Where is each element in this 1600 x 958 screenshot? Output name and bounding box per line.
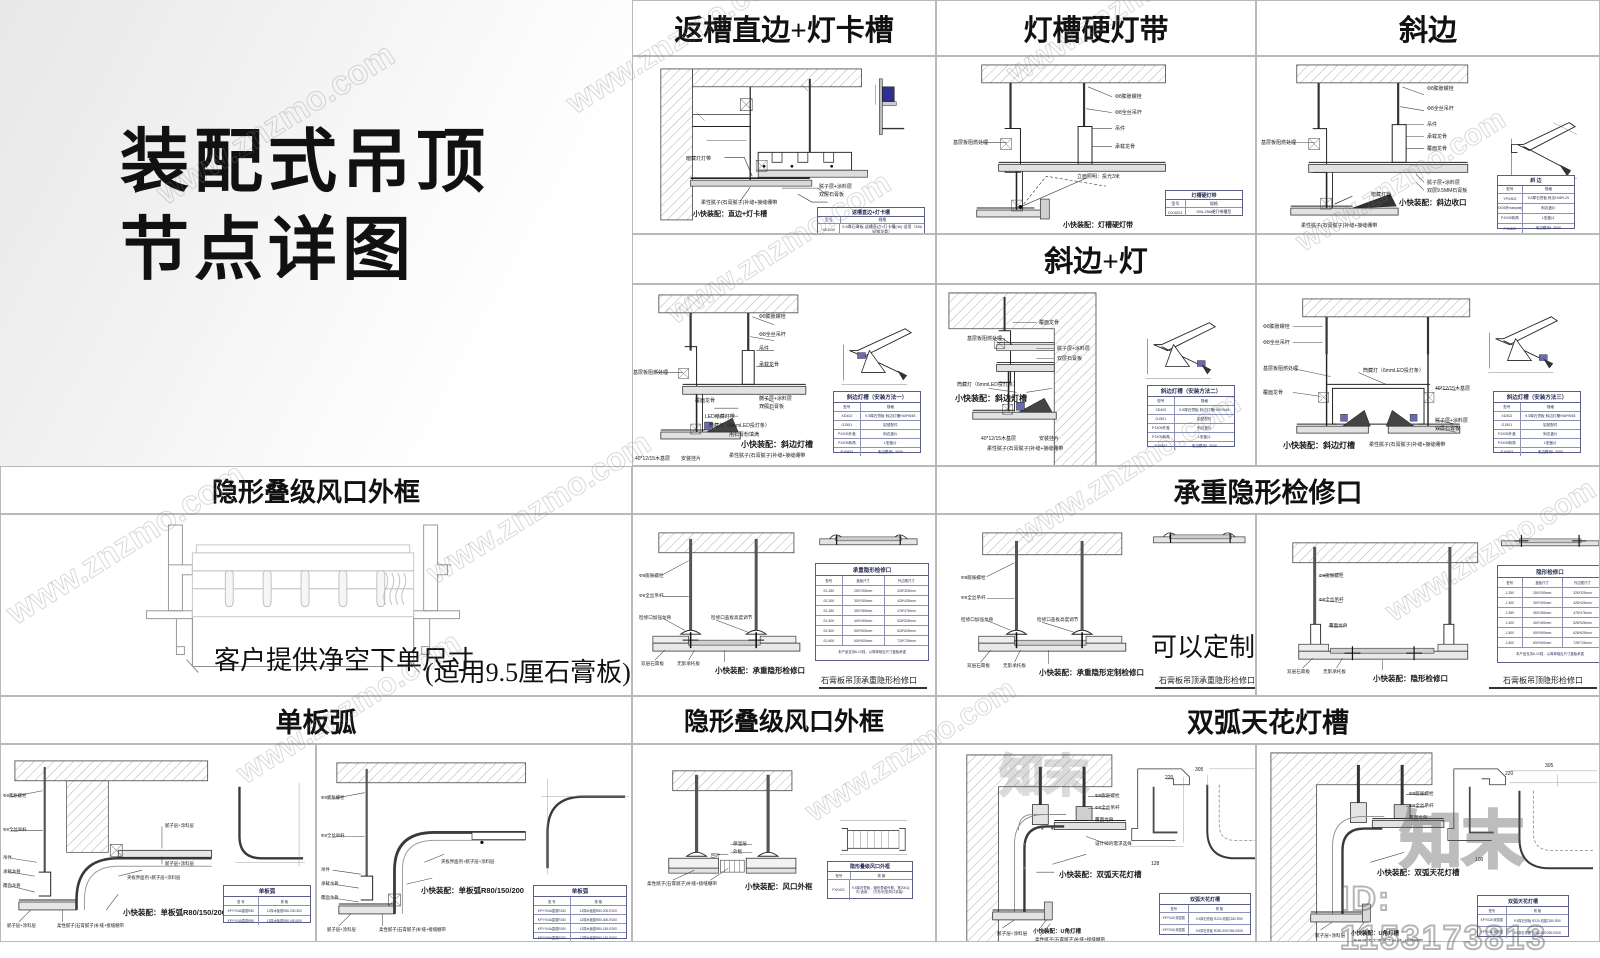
cell-spec: 收边模块L 3000: [1523, 224, 1574, 233]
cell-model: KPY02A 双弧弧: [1478, 915, 1507, 926]
label-p9-4: 双层石膏板: [967, 663, 990, 669]
caption-p9: 石膏板吊顶承重隐形检修口: [1159, 675, 1255, 686]
cell-panel: 250*250mm: [1523, 588, 1563, 597]
label-p14-3: 设计师的需求选择: [1095, 841, 1132, 847]
table-row: KPYY04A直弧R200 12厚木板弧R80-150-R200: [534, 924, 626, 933]
callout-p9: 小快装配：承重隐形定制检修口: [1039, 667, 1144, 678]
label-p4-1: Φ8全丝吊杆: [759, 331, 786, 338]
cell-model: XD402: [834, 412, 861, 420]
spec-table-p12: 单板弧 型 号 规 格 KPYY04A直弧R150 12厚木板弧R80-200-…: [533, 885, 627, 939]
spec-table-p13-title: 隐形叠级风口外框: [828, 862, 912, 872]
cell-model: FXK402: [828, 880, 850, 900]
sheet-title-line1: 装配式吊顶: [120, 118, 490, 206]
spec-table-p3-header: 型号 规格: [1498, 186, 1574, 194]
panel-xiebian-dengcao-1: Φ8膨胀螺栓 Φ8全丝吊杆 吊件 承载龙骨 基层板阻燃处理 覆面龙骨 腻子层+涂…: [632, 284, 936, 466]
cell-frame: 628*628mm: [885, 626, 928, 635]
label-p4-8: LED暗藏灯带: [705, 413, 735, 420]
cell-spec: 9.5厚石膏板 R280-300*250-R200: [1507, 927, 1568, 938]
table-row: PJX05转角 L型盖片: [1148, 433, 1234, 442]
label-p13-1: 外框: [733, 849, 742, 855]
cell-spec: 12厚木板弧R80-150-R200: [571, 924, 626, 932]
cell-model: YPX802: [1498, 194, 1523, 203]
spec-table-p11-title: 单板弧: [224, 886, 310, 897]
label-p11-2: 吊件: [3, 855, 12, 861]
label-p13-3: 柔性腻子(石膏腻子)补缝+接缝绷带: [647, 881, 717, 887]
label-p11-5: 腻子层+涂料层: [165, 823, 194, 829]
spec-table-p4-title: 斜边灯槽（安装方法一）: [834, 392, 920, 403]
table-row: KPYY04A直弧R80 12厚木板弧R80-400-800: [224, 916, 310, 925]
cell-spec: 收边模块L 3000: [1175, 442, 1234, 450]
col-0: 型号: [1478, 907, 1507, 914]
spec-table-p4: 斜边灯槽（安装方法一） 型号 规格 XD402 9.5厚石膏板 斜边灯槽H48*…: [833, 391, 921, 453]
label-p8-1: Φ8全丝吊杆: [639, 593, 664, 599]
label-p8-5: 无影承托板: [677, 661, 700, 667]
label-p9-5: 无影承托板: [1003, 663, 1026, 669]
label-p12-2: 吊件: [321, 867, 330, 873]
cell-frame: 728*728mm: [885, 636, 928, 645]
cell-spec: 12厚木板弧R80-150-R200: [571, 933, 626, 941]
callout-p10: 小快装配：隐形检修口: [1373, 673, 1448, 684]
cell-frame: 328*328mm: [1563, 588, 1600, 597]
dim-p14-1: 220: [1165, 775, 1173, 781]
label-p5-1: 基层板阻燃处理: [967, 335, 1002, 342]
cell-spec: 收边模块L 3000: [1521, 448, 1580, 456]
table-row: SJ-350 350*350mm 478*478mm: [816, 606, 928, 616]
table-row: FXK402 9.5厚石膏板，隐形叠级外框，宽200以内 适用：（方形/长型风口…: [828, 880, 912, 900]
cell-frame: 628*628mm: [1563, 628, 1600, 637]
table-row: KPY02A 双弧弧 9.5厚石膏板 R220-双弧口80-R50: [1160, 913, 1250, 925]
cell-model: KPYY04A直弧R200: [534, 924, 571, 932]
cell-spec: 9.5厚石膏板 R280-300*250-R200: [1189, 925, 1250, 936]
cell-model: J-300: [1498, 598, 1523, 607]
panel-chengzhong-jianxiukou: Φ8膨胀螺栓 Φ8全丝吊杆 检修口加强龙骨 检修口盖板高度调节 双层石膏板 无影…: [632, 514, 936, 696]
label-p5-4: 筒藏灯（6mmLED投灯条）: [957, 381, 1018, 388]
label-p12-6: 夹板界面剂+腻子层+涂料层: [441, 859, 494, 865]
table-row: KPYY04A直弧R150 12厚木板弧R80-400-R100: [534, 915, 626, 924]
cell-model: SJ-400: [816, 616, 843, 625]
col-0: 型号: [1494, 403, 1521, 411]
spec-table-p13: 隐形叠级风口外框 型号 规 格 FXK402 9.5厚石膏板，隐形叠级外框，宽2…: [827, 861, 913, 899]
label-p11-1: Φ8全丝吊杆: [3, 827, 27, 833]
table-row: J-300 300*300mm 428*428mm: [1498, 598, 1600, 608]
label-p3-0: Φ8膨胀螺栓: [1427, 85, 1454, 92]
header-yinxing-fengkou-2: 隐形叠级风口外框: [632, 696, 936, 744]
label-p4-4: 基层板阻燃处理: [633, 369, 668, 376]
panel-row2-spacer-left: [632, 234, 936, 284]
caption-underline-p9: [1155, 687, 1255, 689]
cell-panel: 350*350mm: [1523, 608, 1563, 617]
col-1: 规 格: [259, 897, 310, 905]
label-p6-1: Φ8全丝吊杆: [1263, 339, 1290, 346]
label-p3-4: 覆面龙骨: [1427, 145, 1447, 152]
table-row: J-400 400*400mm 528*528mm: [1498, 618, 1600, 628]
note-text-p7: (适用9.5厘石膏板): [425, 652, 631, 689]
header-yinxing-fengkou-1: 隐形叠级风口外框: [0, 466, 632, 514]
panel-xiebian: Φ8膨胀螺栓 Φ8全丝吊杆 吊件 承载龙骨 覆面龙骨 基层板阻燃处理 腻子层+涂…: [1256, 56, 1600, 234]
label-p3-7: 双层9.5MM石膏板: [1427, 187, 1467, 194]
spec-table-p2: 灯槽硬灯带 型号 规格 DX4201 50#-25#硬灯带槽型: [1165, 190, 1243, 216]
cell-panel: 500*500mm: [843, 626, 885, 635]
panel-chengzhong-dingzhi-jianxiukou: Φ8膨胀螺栓 Φ8全丝吊杆 检修口加强龙骨 检修口盖板高度调节 双层石膏板 无影…: [936, 514, 1256, 696]
label-p3-2: 吊件: [1427, 121, 1437, 128]
cell-spec: 斜边盖片: [1175, 424, 1234, 432]
table-row: PJX05转角 L型盖片: [834, 439, 920, 448]
spec-table-p14-title: 双弧天花灯槽: [1160, 894, 1250, 905]
label-p12-5: 腻子层+涂料层: [327, 927, 356, 933]
panel-yinxing-fengkou-waikuang-2: 保温层 外框 回叶 柔性腻子(石膏腻子)补缝+接缝绷带 小快装配：风口外框 隐形…: [632, 744, 936, 942]
col-1: 规格: [1186, 200, 1242, 207]
cell-model: J-600: [1498, 638, 1523, 647]
label-p10-2: 覆面龙骨: [1329, 623, 1347, 629]
table-row: PJX803 收边模块L 3000: [1498, 224, 1574, 233]
col-0: 型号: [818, 217, 841, 223]
table-row: KPY03A 双弧弧 9.5厚石膏板 R280-300*250-R200: [1478, 927, 1568, 938]
dim-p15-0: 305: [1545, 763, 1553, 769]
label-p5-6: 安装挂片: [1039, 435, 1059, 442]
label-p5-3: 双层石膏板: [1057, 355, 1082, 362]
cell-spec: 斜边盖片: [861, 430, 920, 438]
panel-danbanhu-r200: Φ8膨胀螺栓 Φ8全丝吊杆 吊件 承载龙骨 覆面龙骨 夹板界面剂+腻子层+涂料层…: [316, 744, 632, 942]
label-p2-4: 基层板阻燃处理: [953, 139, 988, 146]
cell-spec: 收边模块L 3000: [861, 448, 920, 456]
cell-panel: 350*350mm: [843, 606, 885, 615]
header-xiebian: 斜边: [1256, 0, 1600, 56]
label-p10-1: Φ8全丝吊杆: [1319, 597, 1344, 603]
label-p4-3: 承载龙骨: [759, 361, 779, 368]
spec-table-p8: 承重隐形检修口 型号 盖板尺寸 外边框尺寸 SJ-250 250*250mm 3…: [815, 563, 929, 661]
caption-p8: 石膏板吊顶承重隐形检修口: [821, 675, 917, 686]
col-1: 规格: [1523, 186, 1574, 193]
table-row: XD402 9.5厚石膏板 斜边灯槽H48*W48: [1494, 412, 1580, 421]
col-2: 外边框尺寸: [1563, 578, 1600, 587]
col-0: 型号: [828, 872, 851, 879]
label-p11-7: 柔性腻子(石膏腻子)补缝+接缝绷带: [57, 923, 124, 929]
cell-model: SJ-600: [816, 636, 843, 645]
cell-spec: 12厚木板弧R80-400-800: [259, 916, 310, 925]
cell-spec: 50#-25#硬灯带槽型: [1186, 208, 1242, 216]
col-1: 规格: [841, 217, 924, 223]
spec-table-p5-header: 型号 规格: [1148, 397, 1234, 406]
cell-model: SJ-500: [816, 626, 843, 635]
col-1: 规 格: [1189, 905, 1250, 912]
cell-spec: 12厚木板弧R80-200-R100: [571, 906, 626, 914]
col-2: 外边框尺寸: [885, 576, 928, 585]
label-p1-2: 双层石膏板: [819, 191, 844, 198]
cell-model: J-400: [1498, 618, 1523, 627]
cell-model: PJX05转角: [834, 439, 861, 447]
spec-table-p8-header: 型号 盖板尺寸 外边框尺寸: [816, 576, 928, 586]
label-p13-0: 保温层: [733, 841, 747, 847]
cell-frame: 728*728mm: [1563, 638, 1600, 647]
label-p9-3: 检修口盖板高度调节: [1037, 617, 1078, 623]
col-1: 盖板尺寸: [843, 576, 885, 585]
label-p4-0: Φ8膨胀螺栓: [759, 313, 786, 320]
label-p5-7: 柔性腻子(石膏腻子)补缝+接缝绷带: [987, 445, 1063, 452]
spec-table-p12-title: 单板弧: [534, 886, 626, 897]
cell-panel: 500*500mm: [1523, 628, 1563, 637]
col-1: 规 格: [571, 897, 626, 905]
dim-p15-2: 100: [1475, 857, 1483, 863]
spec-table-p1-title: 返槽直边+灯卡槽: [818, 208, 924, 217]
cell-model: SJ-250: [816, 586, 843, 595]
table-row: XD402 9.5厚石膏板 斜边灯槽H48*W48: [1148, 406, 1234, 415]
sheet-title-line2: 节点详图: [120, 206, 490, 294]
col-0: 型号: [1498, 186, 1523, 193]
cell-spec: 9.5厚石膏板 R220-双弧口80-R50: [1189, 913, 1250, 924]
panel-dengcao-yingdengdai: Φ8膨胀螺栓 Φ8全丝吊杆 吊件 承载龙骨 基层板阻燃处理 立面照明：投光3米 …: [936, 56, 1256, 234]
label-p2-2: 吊件: [1115, 125, 1125, 132]
header-fancao-zhibian: 返槽直边+灯卡槽: [632, 0, 936, 56]
label-p4-2: 吊件: [759, 345, 769, 352]
label-p14-5: 柔性腻子(石膏腻子)补缝+接缝绷带: [1035, 937, 1105, 942]
label-p11-5b: 腻子层+涂料层: [165, 861, 194, 867]
col-0: 型 号: [534, 897, 571, 905]
header-xiebian-deng: 斜边+灯: [936, 234, 1256, 284]
panel-row3-spacer: [632, 466, 936, 514]
label-p10-4: 无影承托板: [1323, 669, 1346, 675]
cell-model: PJX05外盖: [1148, 424, 1175, 432]
spec-table-p8-title: 承重隐形检修口: [816, 564, 928, 576]
cell-spec: 9.5厚石膏板 斜边灯槽H48*W48: [1175, 406, 1234, 414]
spec-table-p6-title: 斜边灯槽（安装方法三）: [1494, 392, 1580, 403]
header-chengzhong-jianxiukou: 承重隐形检修口: [936, 466, 1600, 514]
label-p13-2: 回叶: [711, 853, 720, 859]
spec-table-p14-header: 型号 规 格: [1160, 905, 1250, 913]
table-row: SJ-300 300*300mm 428*428mm: [816, 596, 928, 606]
cell-model: PJX05外盖: [1494, 430, 1521, 438]
spec-table-p8-footnote: 本产品支持6-10档，以简单相应尺寸盖板承重: [816, 646, 928, 657]
spec-table-p4-header: 型号 规格: [834, 403, 920, 412]
cell-model: DX4201: [1166, 208, 1186, 216]
cell-spec: 铝型配件: [1521, 421, 1580, 429]
header-shuanghu-tianhua: 双弧天花灯槽: [936, 696, 1600, 744]
callout-p2: 小快装配：灯槽硬灯带: [1063, 220, 1133, 230]
table-row: J-350 350*350mm 478*478mm: [1498, 608, 1600, 618]
label-p8-0: Φ8膨胀螺栓: [639, 573, 664, 579]
spec-table-p15: 双弧天花灯槽 型号 规 格 KPY02A 双弧弧 9.5厚石膏板 R220-双弧…: [1477, 895, 1569, 937]
cell-spec: 铝型配件: [1175, 415, 1234, 423]
drawing-sheet: 装配式吊顶 节点详图 返槽直边+灯卡槽 灯槽硬灯带 斜边: [0, 0, 1600, 942]
cell-footnote: 本产品支持6-10档，以简单相应尺寸盖板承重: [1498, 648, 1600, 659]
spec-table-p10: 隐形检修口 型号 盖板尺寸 外边框尺寸 J-250 250*250mm 328*…: [1497, 565, 1600, 663]
table-row: PJX05转角 L型盖片: [1494, 439, 1580, 448]
cell-spec: 9.5厚石膏板 斜边H48*L20: [1523, 194, 1574, 203]
col-0: 型号: [1148, 397, 1175, 405]
cell-model: PJX05外направ盖: [1498, 204, 1523, 213]
col-0: 型号: [1498, 578, 1523, 587]
label-p10-3: 双层石膏板: [1287, 669, 1310, 675]
spec-table-p5: 斜边灯槽（安装方法二） 型号 规格 XD402 9.5厚石膏板 斜边灯槽H48*…: [1147, 385, 1235, 447]
header-danbanhu: 单板弧: [0, 696, 632, 744]
label-p6-6: 腻子层+涂料层: [1435, 417, 1468, 424]
label-p15-1: Φ8全丝吊杆: [1409, 803, 1434, 809]
callout-p11: 小快装配：单板弧R80/150/200: [123, 907, 226, 918]
cell-frame: 528*528mm: [885, 616, 928, 625]
label-p6-8: 柔性腻子(石膏腻子)补缝+接缝绷带: [1369, 441, 1445, 448]
spec-table-p1-header: 型号 规格: [818, 217, 924, 224]
col-1: 规格: [861, 403, 920, 411]
label-p9-1: Φ8全丝吊杆: [961, 595, 986, 601]
table-row: J-500 500*500mm 628*628mm: [1498, 628, 1600, 638]
cell-panel: 400*400mm: [1523, 618, 1563, 627]
label-p12-4: 覆面龙骨: [321, 895, 339, 901]
callout-p15: 小快装配：双弧天花灯槽: [1377, 867, 1460, 878]
label-p3-6: 腻子层+涂料层: [1427, 179, 1460, 186]
label-p5-2: 腻子层+涂料层: [1057, 345, 1090, 352]
spec-table-p5-title: 斜边灯槽（安装方法二）: [1148, 386, 1234, 397]
label-p4-12: 安装挂片: [681, 455, 701, 462]
label-p12-7: 柔性腻子(石膏腻子)补缝+接缝绷带: [379, 927, 446, 933]
label-p1-0: 暗藏灯灯带: [686, 155, 711, 162]
spec-table-p3: 斜 边 型号 规格 YPX802 9.5厚石膏板 斜边H48*L20 PJX05…: [1497, 175, 1575, 229]
callout-p12: 小快装配：单板弧R80/150/200: [421, 885, 524, 896]
label-p2-0: Φ8膨胀螺栓: [1115, 93, 1142, 100]
panel-xiebian-dengcao-3: Φ8膨胀螺栓 Φ8全丝吊杆 基层板阻燃处理 覆面龙骨 筒藏灯（6mmLED投灯条…: [1256, 284, 1600, 466]
callout-p8: 小快装配：承重隐形检修口: [715, 665, 805, 676]
dim-p14-2: 128: [1151, 861, 1159, 867]
cell-model: GJ501: [1494, 421, 1521, 429]
cell-spec: L型盖片: [1521, 439, 1580, 447]
cell-panel: 300*300mm: [843, 596, 885, 605]
dim-p14-0: 305: [1195, 767, 1203, 773]
spec-table-p10-footnote: 本产品支持6-10档，以简单相应尺寸盖板承重: [1498, 648, 1600, 659]
label-p4-6: 腻子层+涂料层: [759, 395, 792, 402]
label-p6-0: Φ8膨胀螺栓: [1263, 323, 1290, 330]
spec-table-p6-header: 型号 规格: [1494, 403, 1580, 412]
cell-frame: 428*428mm: [885, 596, 928, 605]
callout-p4: 小快装配：斜边灯槽: [741, 439, 813, 450]
label-p15-4: 腻子层+涂料层: [1315, 933, 1345, 939]
label-p11-0: Φ8膨胀螺栓: [3, 793, 27, 799]
cell-spec: 斜边盖片: [1521, 430, 1580, 438]
label-p6-2: 基层板阻燃处理: [1263, 365, 1298, 372]
table-row: SJ-250 250*250mm 328*328mm: [816, 586, 928, 596]
cell-spec: 9.5厚石膏板 返槽直边+灯卡槽(40) 适用（50#轻钢龙骨）: [840, 224, 924, 234]
table-row: YPX802 9.5厚石膏板 斜边H48*L20: [1498, 194, 1574, 204]
title-block: 装配式吊顶 节点详图: [0, 0, 633, 467]
header-dengcao-yingdengdai: 灯槽硬灯带: [936, 0, 1256, 56]
cell-model: GJ501: [1148, 415, 1175, 423]
cell-model: XKD02: [818, 224, 840, 234]
cell-spec: 9.5厚石膏板 斜边灯槽H48*W48: [861, 412, 920, 420]
cell-model: XD402: [1494, 412, 1521, 420]
table-row: GJ501 铝型配件: [1148, 415, 1234, 424]
label-p1-3: 柔性腻子(石膏腻子)补缝+接缝绷带: [701, 199, 777, 206]
spec-table-p10-header: 型号 盖板尺寸 外边框尺寸: [1498, 578, 1600, 588]
cell-model: PJX803: [1494, 448, 1521, 456]
label-p10-0: Φ8膨胀螺栓: [1319, 573, 1344, 579]
label-p14-1: Φ8全丝吊杆: [1095, 805, 1120, 811]
spec-table-p14: 双弧天花灯槽 型号 规 格 KPY02A 双弧弧 9.5厚石膏板 R220-双弧…: [1159, 893, 1251, 935]
cell-model: XD402: [1148, 406, 1175, 414]
label-p4-9: 筒藏灯（6mmLED投灯条）: [709, 422, 770, 429]
col-0: 型号: [816, 576, 843, 585]
label-p4-13: 柔性腻子(石膏腻子)补缝+接缝绷带: [729, 452, 805, 459]
label-p4-5: 覆面龙骨: [695, 397, 715, 404]
label-p6-5: 40*12/15木基层: [1435, 385, 1470, 392]
spec-table-p6: 斜边灯槽（安装方法三） 型号 规格 XD402 9.5厚石膏板 斜边灯槽H48*…: [1493, 391, 1581, 453]
cell-model: KPY02A 双弧弧: [1160, 913, 1189, 924]
callout-p5: 小快装配：斜边灯槽: [955, 393, 1027, 404]
col-1: 规格: [1521, 403, 1580, 411]
cell-panel: 600*600mm: [843, 636, 885, 645]
table-row: KPYY04A直弧R80 12厚木板弧R80-200-300: [224, 906, 310, 916]
table-row: KPYY04A直弧R150 12厚木板弧R80-200-R100: [534, 906, 626, 915]
label-p12-1: Φ8全丝吊杆: [321, 833, 345, 839]
label-p11-6: 夹板界面剂+腻子层+涂料层: [127, 875, 180, 881]
cell-model: J-500: [1498, 628, 1523, 637]
label-p6-4: 筒藏灯（6mmLED投灯条）: [1363, 367, 1424, 374]
table-row: PJX803 收边模块L 3000: [1494, 448, 1580, 456]
panel-row2-spacer-right: [1256, 234, 1600, 284]
callout-p3: 小快装配：斜边收口: [1399, 197, 1467, 208]
cell-footnote: 本产品支持6-10档，以简单相应尺寸盖板承重: [816, 646, 928, 657]
panel-fancao-zhibian: 小快装配：直边+灯卡槽 暗藏灯灯带 腻子层+涂料层 双层石膏板 柔性腻子(石膏腻…: [632, 56, 936, 234]
label-p5-5: 40*12/15木基层: [981, 435, 1016, 442]
spec-table-p1: 返槽直边+灯卡槽 型号 规格 XKD02 9.5厚石膏板 返槽直边+灯卡槽(40…: [817, 207, 925, 234]
caption-p10: 石膏板吊顶隐形检修口: [1503, 675, 1583, 686]
cell-model: PJX05转角: [1148, 433, 1175, 441]
label-p8-2: 检修口加强龙骨: [639, 615, 671, 621]
table-row: J-250 250*250mm 328*328mm: [1498, 588, 1600, 598]
label-p4-7: 双层石膏板: [759, 403, 784, 410]
label-p3-8: 暗藏灯管: [1371, 191, 1391, 198]
cell-spec: L型盖片: [1175, 433, 1234, 441]
col-0: 型号: [834, 403, 861, 411]
panel-xiebian-dengcao-2: 覆面龙骨 基层板阻燃处理 腻子层+涂料层 双层石膏板 筒藏灯（6mmLED投灯条…: [936, 284, 1256, 466]
table-row: DX4201 50#-25#硬灯带槽型: [1166, 208, 1242, 216]
label-p5-0: 覆面龙骨: [1039, 319, 1059, 326]
label-p12-3: 承载龙骨: [321, 881, 339, 887]
cell-model: GJ501: [834, 421, 861, 429]
table-row: KPYY05A直弧R200 12厚木板弧R80-150-R200: [534, 933, 626, 941]
panel-shuanghu-dengcao-b: Φ8膨胀螺栓 Φ8全丝吊杆 覆面龙骨 腻子层+涂料层 柔性腻子(石膏腻子)补缝+…: [1256, 744, 1600, 942]
cell-model: KPYY04A直弧R80: [224, 916, 259, 925]
table-row: PJX05外盖 斜边盖片: [834, 430, 920, 439]
cell-spec: 斜边盖片: [1523, 204, 1574, 213]
label-p6-7: 双层石膏板: [1435, 425, 1460, 432]
panel-shuanghu-dengcao-a: Φ8膨胀螺栓 Φ8全丝吊杆 覆面龙骨 设计师的需求选择 腻子层+涂料层 柔性腻子…: [936, 744, 1256, 942]
label-p6-3: 覆面龙骨: [1263, 389, 1283, 396]
col-1: 规 格: [851, 872, 912, 879]
cell-model: PJX05外盖: [834, 430, 861, 438]
cell-spec: 铝型配件: [861, 421, 920, 429]
label-p9-0: Φ8膨胀螺栓: [961, 575, 986, 581]
label-p14-2: 覆面龙骨: [1095, 817, 1113, 823]
label-p8-4: 双层石膏板: [641, 661, 664, 667]
panel-danbanhu-r80: Φ8膨胀螺栓 Φ8全丝吊杆 吊件 承载龙骨 覆面龙骨 腻子层+涂料层 腻子层+涂…: [0, 744, 316, 942]
label-p2-5: 立面照明：投光3米: [1077, 173, 1120, 180]
callout-p14: 小快装配：双弧天花灯槽: [1059, 869, 1142, 880]
cell-panel: 300*300mm: [1523, 598, 1563, 607]
table-row: SJ-600 600*600mm 728*728mm: [816, 636, 928, 646]
cell-spec: 9.5厚石膏板 斜边灯槽H48*W48: [1521, 412, 1580, 420]
cell-frame: 328*328mm: [885, 586, 928, 595]
cell-model: PJX803: [1498, 224, 1523, 233]
table-row: PJX803 收边模块L 3000: [1148, 442, 1234, 450]
cell-spec: L型盖片: [861, 439, 920, 447]
spec-table-p11: 单板弧 型 号 规 格 KPYY04A直弧R80 12厚木板弧R80-200-3…: [223, 885, 311, 923]
spec-table-p11-header: 型 号 规 格: [224, 897, 310, 906]
col-0: 型 号: [224, 897, 259, 905]
col-1: 规格: [1175, 397, 1234, 405]
table-row: PJX05外盖 斜边盖片: [1494, 430, 1580, 439]
cell-frame: 478*478mm: [1563, 608, 1600, 617]
cell-model: KPY03A 双弧弧: [1478, 927, 1507, 938]
caption-underline-p10: [1489, 687, 1597, 689]
spec-table-p13-header: 型号 规 格: [828, 872, 912, 880]
spec-table-p10-title: 隐形检修口: [1498, 566, 1600, 578]
